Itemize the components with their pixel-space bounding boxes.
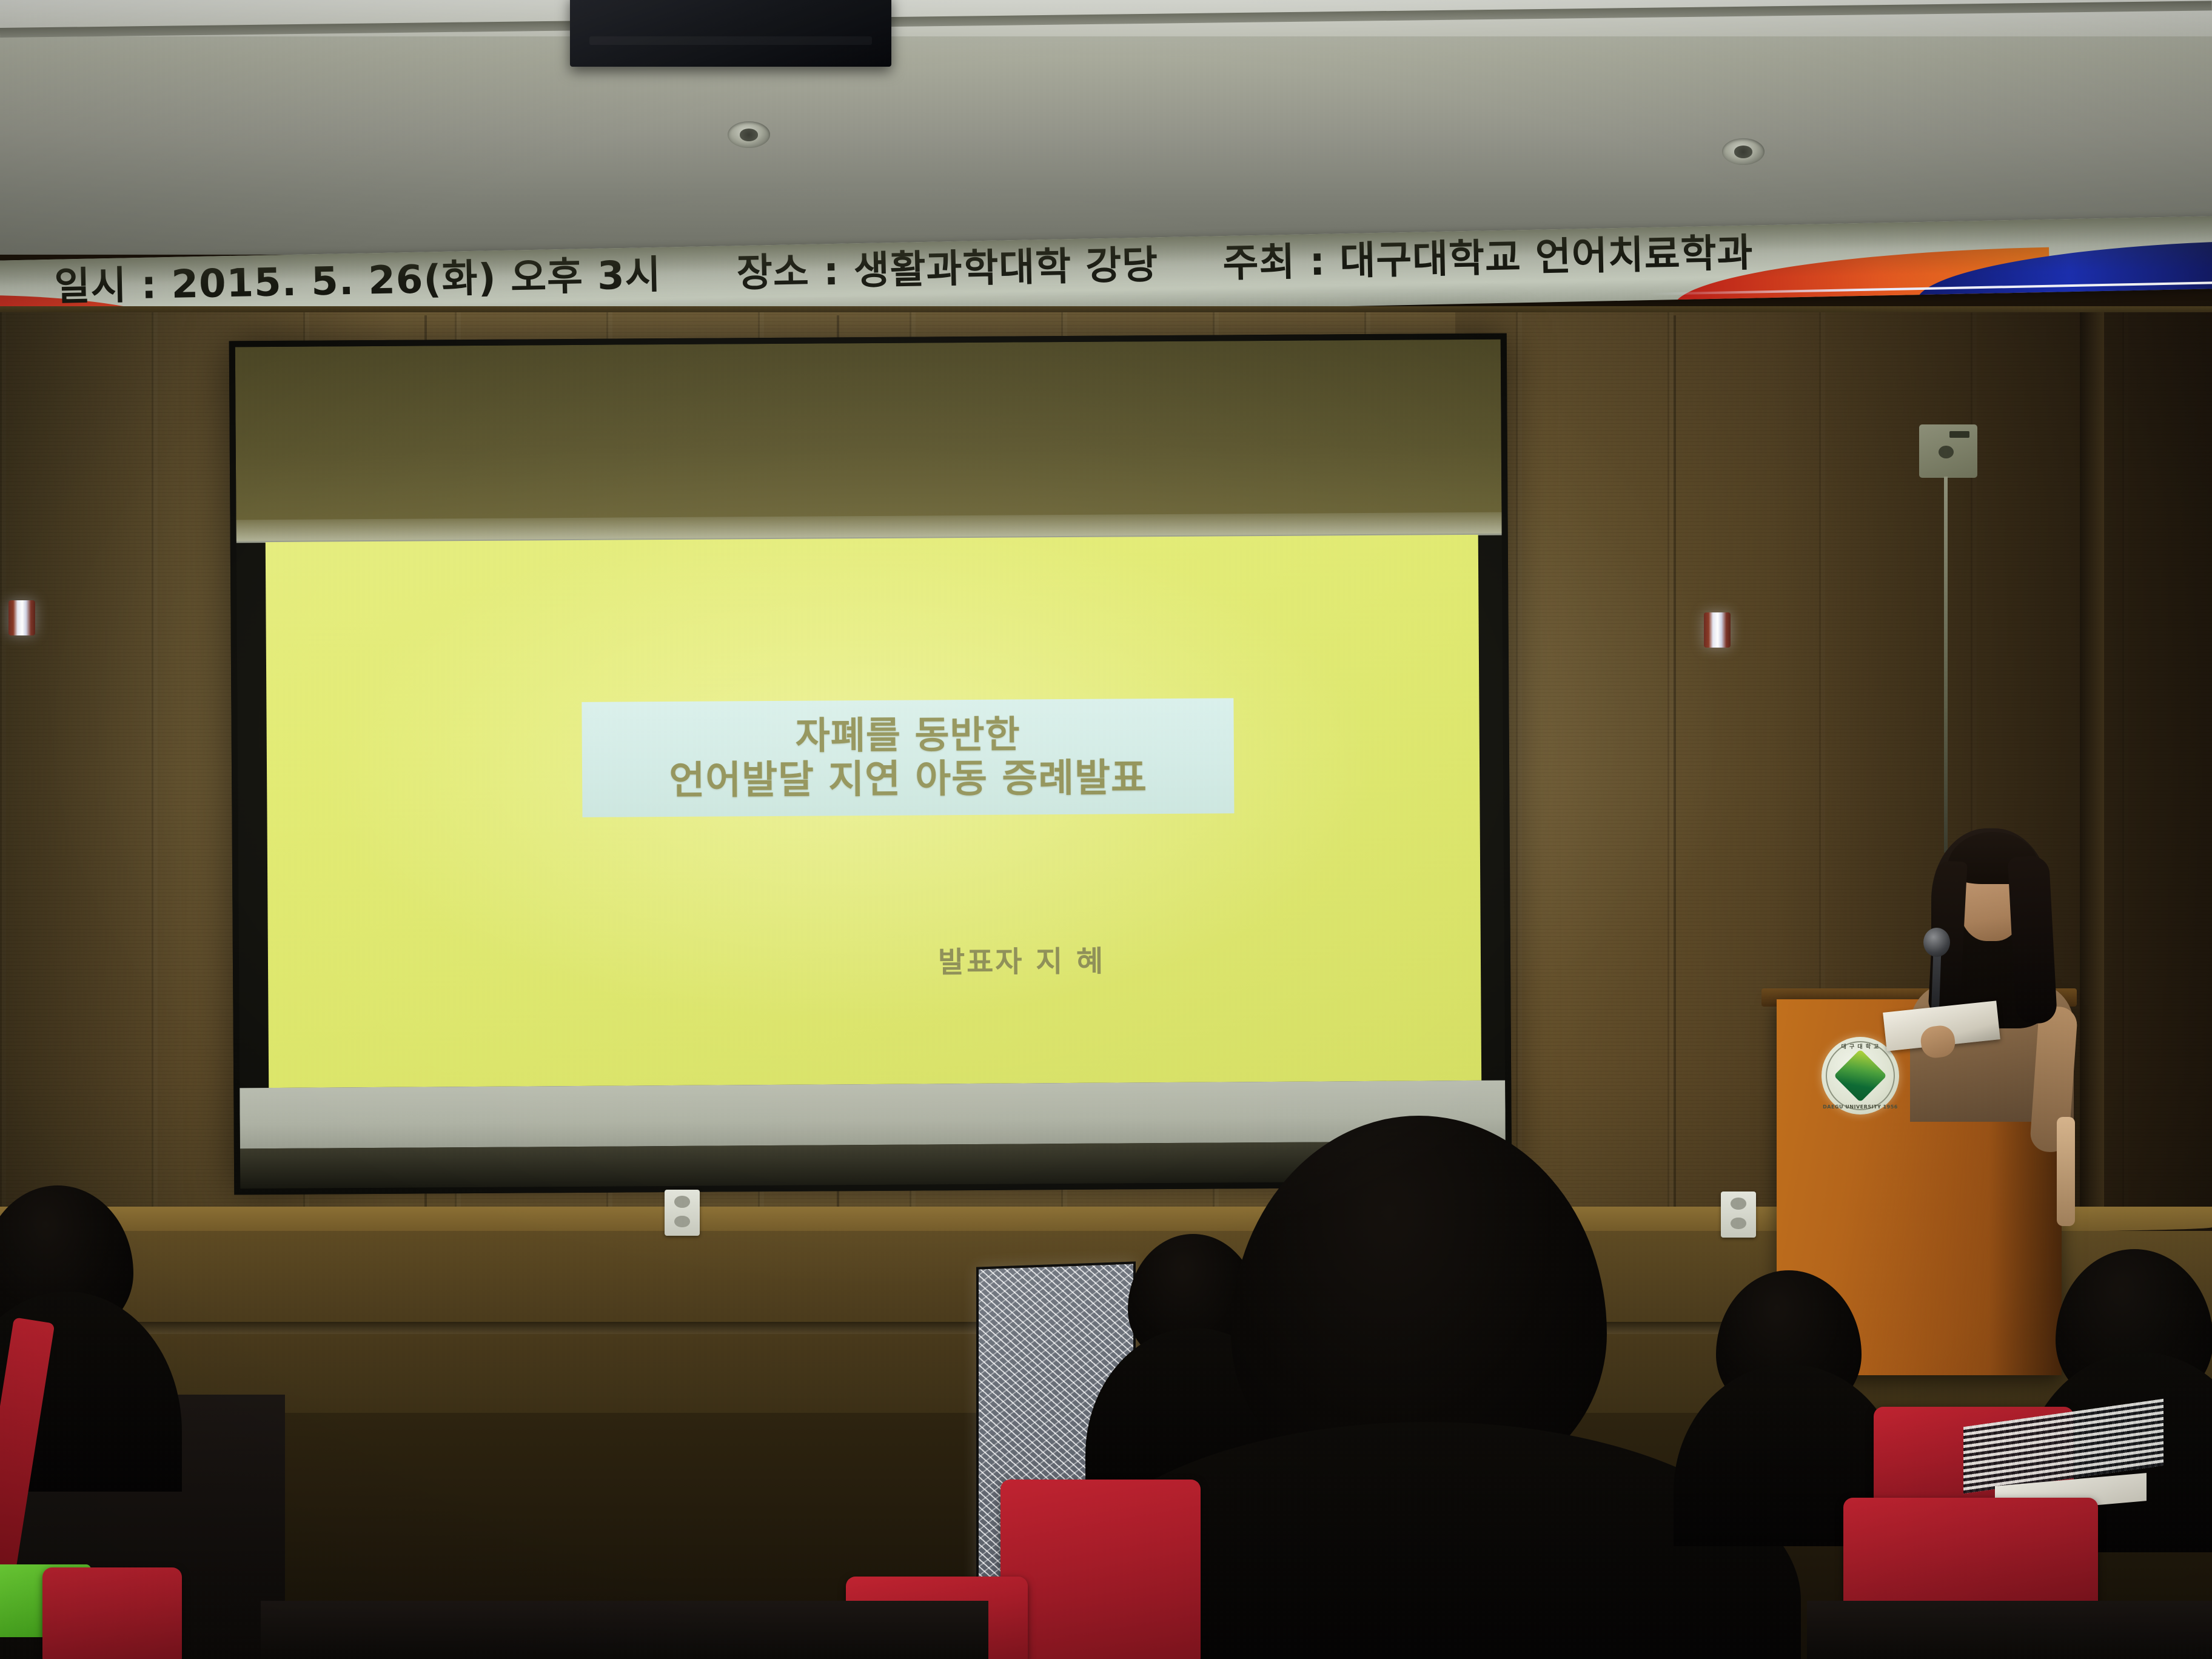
ceiling-projector-box — [570, 0, 891, 67]
speaker-hair-right — [2008, 855, 2057, 1024]
speaker-box-dot — [1939, 446, 1954, 458]
speaker-box-slit — [1949, 431, 1969, 438]
seat-row-shadow — [1807, 1601, 2212, 1659]
projection-screen: 자폐를 동반한 언어발달 지연 아동 증례발표 발표자 지 혜 — [229, 333, 1512, 1195]
emblem-bottom-text: DAEGU UNIVERSITY 1956 — [1822, 1104, 1899, 1110]
ceiling — [0, 0, 2212, 255]
recessed-ceiling-light — [1722, 138, 1765, 165]
banner-spacer — [675, 287, 723, 288]
auditorium-photo: 일시 : 2015. 5. 26(화) 오후 3시 장소 : 생활과학대학 강당… — [0, 0, 2212, 1659]
screen-frame — [229, 333, 1512, 1195]
recessed-ceiling-light — [728, 121, 770, 148]
wall-indicator-light — [8, 600, 35, 635]
microphone-icon — [1923, 928, 1950, 957]
speaker-leg — [2057, 1117, 2075, 1226]
wall-indicator-light — [1704, 612, 1731, 648]
right-wall-corner — [2080, 312, 2104, 1282]
seat-row-shadow — [261, 1601, 988, 1659]
wall-seam — [1674, 315, 1676, 1279]
auditorium-seat — [42, 1567, 182, 1659]
wall-power-outlet — [1721, 1191, 1756, 1238]
wall-mounted-speaker-box — [1919, 424, 1977, 478]
auditorium-seat — [1843, 1498, 2098, 1613]
wall-power-outlet — [665, 1190, 700, 1236]
wall-cable — [1944, 477, 1948, 853]
banner-spacer — [1173, 277, 1209, 278]
auditorium-seat — [1000, 1480, 1201, 1659]
